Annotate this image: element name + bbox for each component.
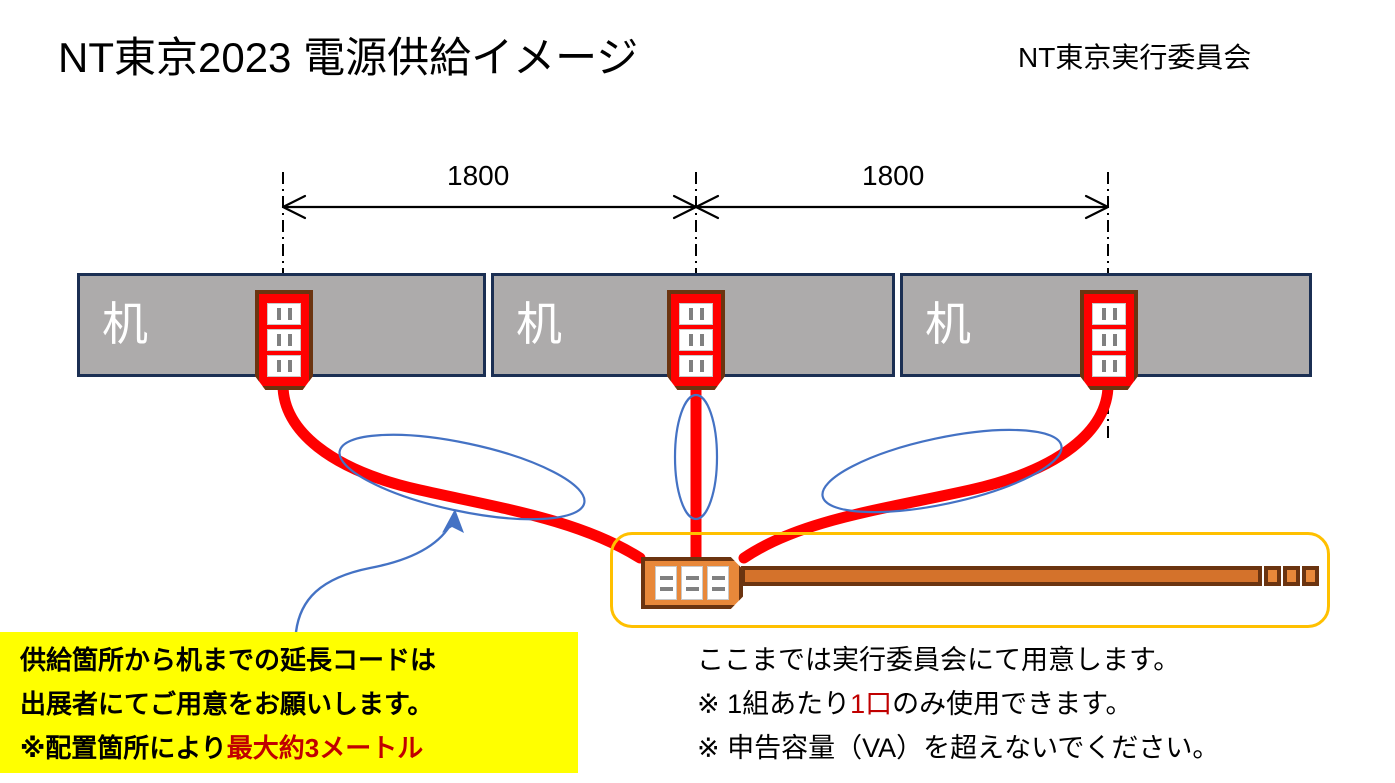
callout-arrow-curve <box>296 522 452 632</box>
callout-line-2: 出展者にてご用意をお願いします。 <box>20 682 578 726</box>
note-line-2-highlight: 1口 <box>850 689 892 719</box>
desk-power-strip-3[interactable] <box>1080 290 1138 390</box>
desk-label: 机 <box>516 301 562 347</box>
arrowhead-mid-a <box>674 196 696 218</box>
committee-notes: ここまでは実行委員会にて用意します。 ※ 1組あたり1口のみ使用できます。 ※ … <box>697 638 1357 770</box>
highlight-ellipse-left <box>333 418 592 536</box>
arrowhead-left <box>283 196 305 218</box>
outlet-socket[interactable] <box>679 329 713 351</box>
highlight-ellipse-middle <box>675 395 717 519</box>
outlet-socket[interactable] <box>267 329 301 351</box>
organization-name: NT東京実行委員会 <box>1018 36 1251 76</box>
outlet-socket[interactable] <box>1092 303 1126 325</box>
desk-label: 机 <box>102 301 148 347</box>
outlet-socket[interactable] <box>707 566 729 600</box>
dimension-label-right: 1800 <box>862 160 924 192</box>
callout-arrowhead <box>442 509 464 533</box>
outlet-socket[interactable] <box>679 355 713 377</box>
highlight-ellipse-right <box>816 413 1068 528</box>
outlet-socket[interactable] <box>1092 355 1126 377</box>
outlet-socket[interactable] <box>681 566 703 600</box>
outlet-socket[interactable] <box>679 303 713 325</box>
callout-line-3-prefix: ※配置箇所により <box>20 733 227 763</box>
arrowhead-mid-b <box>696 196 718 218</box>
exhibitor-notice-callout: 供給箇所から机までの延長コードは 出展者にてご用意をお願いします。 ※配置箇所に… <box>0 632 578 773</box>
arrowhead-right <box>1086 196 1108 218</box>
page-title: NT東京2023 電源供給イメージ <box>58 24 638 85</box>
note-line-1: ここまでは実行委員会にて用意します。 <box>697 638 1357 682</box>
committee-floor-power-strip[interactable] <box>641 557 743 609</box>
note-line-2: ※ 1組あたり1口のみ使用できます。 <box>697 682 1357 726</box>
diagram-canvas: NT東京2023 電源供給イメージ NT東京実行委員会 1800 1800 <box>0 0 1395 783</box>
outlet-socket[interactable] <box>267 303 301 325</box>
note-line-2-prefix: ※ 1組あたり <box>697 689 850 719</box>
dimension-label-left: 1800 <box>447 160 509 192</box>
callout-line-3: ※配置箇所により最大約3メートル <box>20 726 578 770</box>
callout-line-3-highlight: 最大約3メートル <box>227 733 423 763</box>
outlet-socket[interactable] <box>267 355 301 377</box>
outlet-socket[interactable] <box>1092 329 1126 351</box>
callout-line-1: 供給箇所から机までの延長コードは <box>20 638 578 682</box>
outlet-socket[interactable] <box>655 566 677 600</box>
note-line-2-suffix: のみ使用できます。 <box>892 689 1132 719</box>
desk-label: 机 <box>925 301 971 347</box>
extension-cord-left <box>283 385 640 558</box>
desk-power-strip-2[interactable] <box>667 290 725 390</box>
desk-power-strip-1[interactable] <box>255 290 313 390</box>
note-line-3: ※ 申告容量（VA）を超えないでください。 <box>697 726 1357 770</box>
